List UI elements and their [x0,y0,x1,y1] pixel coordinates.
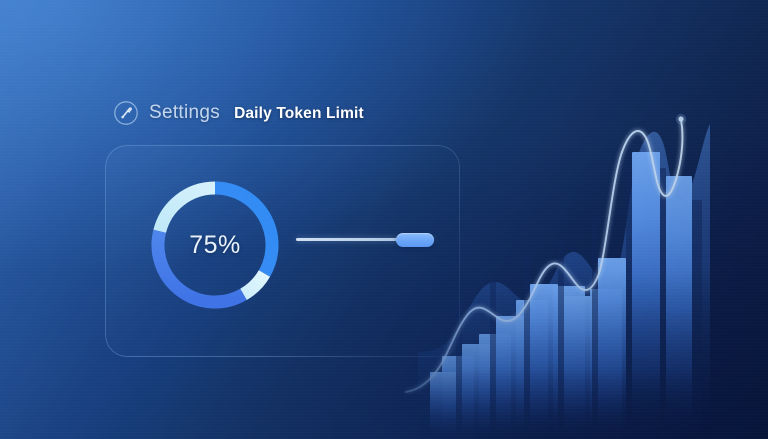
slider-thumb[interactable] [396,233,434,247]
gear-icon [113,100,139,126]
settings-header: Settings Daily Token Limit [113,100,364,126]
token-usage-gauge: 75% [146,176,284,314]
chart-area-fill [418,124,710,439]
screenshot-canvas: Settings Daily Token Limit [0,0,768,439]
chart-endpoint-marker [678,116,683,121]
page-title: Daily Token Limit [234,103,364,123]
chart-bars [442,272,622,439]
gauge-value-label: 75% [146,176,284,314]
daily-token-limit-slider[interactable] [296,232,434,248]
chart-bar-gaps [456,150,702,439]
settings-label: Settings [149,102,220,124]
chart-endpoint-glow [676,114,686,124]
chart-bars-foreground [430,152,692,439]
